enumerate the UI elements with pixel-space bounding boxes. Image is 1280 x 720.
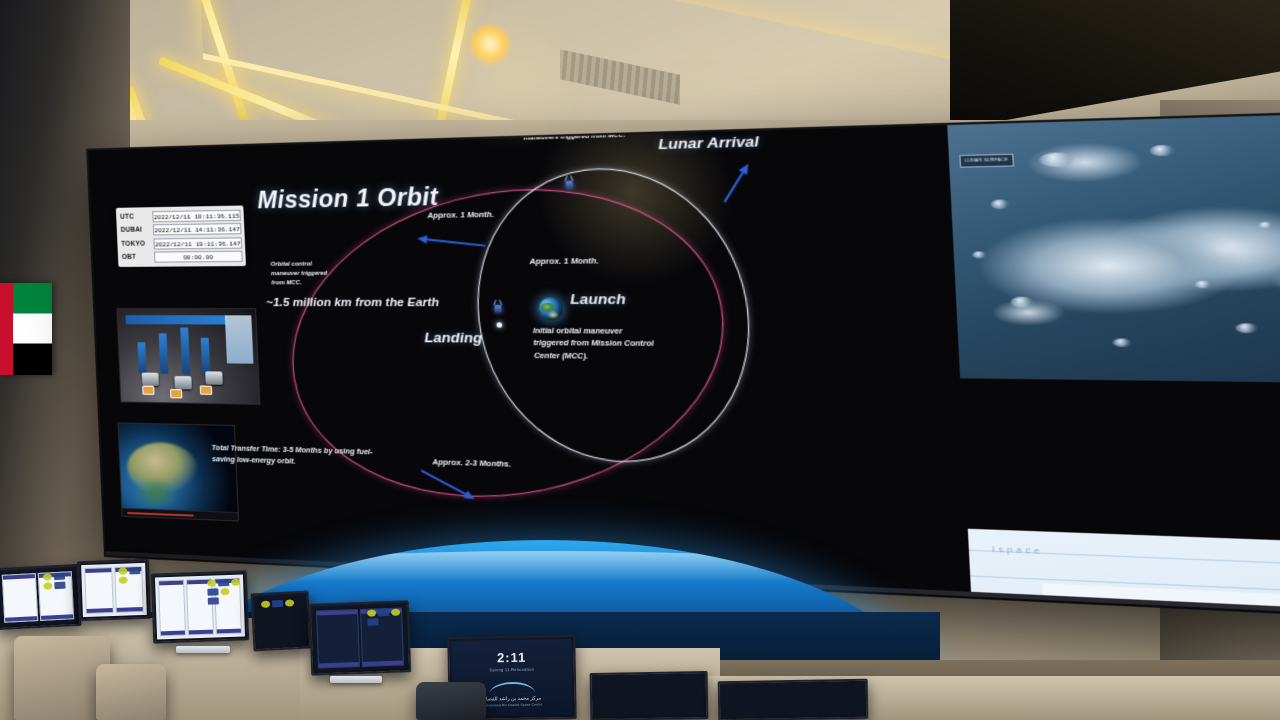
rover-tag <box>170 389 182 398</box>
landing-site-marker <box>496 322 502 327</box>
ceiling-spotlight <box>468 22 512 66</box>
workstation-monitor[interactable] <box>77 559 151 621</box>
mbrsc-logo-arabic: مركز محمد بن راشد للفضاء <box>482 695 542 702</box>
keyboard[interactable] <box>330 676 382 683</box>
operator-chair[interactable] <box>416 682 486 720</box>
lander-icon <box>492 302 504 315</box>
note-orbital-control-maneuver: Orbital control maneuver triggered from … <box>270 260 338 288</box>
clock-row-obt: OBT 00:00.00 <box>121 250 243 263</box>
clock-label: DUBAI <box>120 226 154 234</box>
label-distance-from-earth: ~1.5 million km from the Earth <box>266 295 440 311</box>
workstation-monitor[interactable] <box>151 570 249 643</box>
label-launch: Launch <box>570 291 626 307</box>
mission-clock-panel: UTC 2022/12/11 10:11:36.115 DUBAI 2022/1… <box>116 205 246 266</box>
rover-tag <box>142 386 154 395</box>
keyboard[interactable] <box>176 646 230 653</box>
workstation-monitor[interactable] <box>309 600 411 675</box>
label-lunar-arrival: Lunar Arrival <box>658 133 759 153</box>
mbrsc-logo-english: Mohammed Bin Rashid Space Centre <box>482 702 542 707</box>
label-landing: Landing <box>424 329 483 345</box>
rover-panel-sidebar <box>224 315 253 364</box>
workstation-monitor[interactable] <box>718 679 869 720</box>
label-approx-1-month-b: Approx. 1 Month. <box>529 256 599 266</box>
clock-value: 2022/12/11 19:11:36.147 <box>153 237 242 249</box>
label-total-transfer-time: Total Transfer Time: 3-5 Months by using… <box>211 443 389 472</box>
earth-view-panel <box>117 422 239 521</box>
rover-panel-header <box>126 315 228 324</box>
mbrsc-swoosh-icon <box>489 681 535 694</box>
clock-label: TOKYO <box>120 240 154 247</box>
workstation-monitor[interactable] <box>251 591 312 652</box>
rover-icon <box>142 372 159 385</box>
uae-flag <box>0 283 52 375</box>
clock-row-tokyo: TOKYO 2022/12/11 19:11:36.147 <box>120 237 242 251</box>
operator-chair[interactable] <box>96 664 166 720</box>
led-video-wall[interactable]: UTC 2022/12/11 10:11:36.115 DUBAI 2022/1… <box>88 111 1280 619</box>
rover-bar-chart <box>200 337 210 375</box>
clock-value: 2022/12/11 14:11:36.147 <box>153 223 242 235</box>
lunar-photo-caption: LUNAR SURFACE <box>959 154 1014 169</box>
mission-control-room-scene: UTC 2022/12/11 10:11:36.115 DUBAI 2022/1… <box>0 0 1280 720</box>
rover-icon <box>205 371 223 385</box>
workstation-monitor[interactable] <box>0 564 82 630</box>
mbrsc-logo: مركز محمد بن راشد للفضاء Mohammed Bin Ra… <box>482 681 542 707</box>
clock-value: 2022/12/11 10:11:36.115 <box>152 209 241 222</box>
earth-image <box>119 423 239 520</box>
note-initial-orbital-maneuver: Initial orbital maneuver triggered from … <box>533 326 657 364</box>
center-monitor-time: 2:11 <box>497 649 527 665</box>
earth-icon <box>538 297 563 320</box>
clock-label: UTC <box>119 213 153 221</box>
crater-field <box>947 111 1280 384</box>
spacecraft-icon <box>563 178 575 191</box>
label-approx-1-month-a: Approx. 1 Month. <box>427 209 494 220</box>
direction-arrow-icon <box>720 161 744 199</box>
clock-row-dubai: DUBAI 2022/12/11 14:11:36.147 <box>119 223 241 237</box>
rover-icon <box>175 376 193 389</box>
lunar-surface-photo-panel: LUNAR SURFACE <box>947 111 1280 384</box>
page-title: Mission 1 Orbit <box>257 183 439 215</box>
ispace-logo: ispace <box>992 546 1043 556</box>
clock-label: OBT <box>121 254 155 261</box>
rover-dashboard-panel <box>116 308 260 405</box>
clock-value: 00:00.00 <box>154 251 243 263</box>
clock-row-utc: UTC 2022/12/11 10:11:36.115 <box>119 209 241 223</box>
workstation-monitor[interactable] <box>590 671 709 720</box>
rover-tag <box>200 386 212 395</box>
center-monitor-subtext: Saving 11 Renovation <box>489 666 534 672</box>
